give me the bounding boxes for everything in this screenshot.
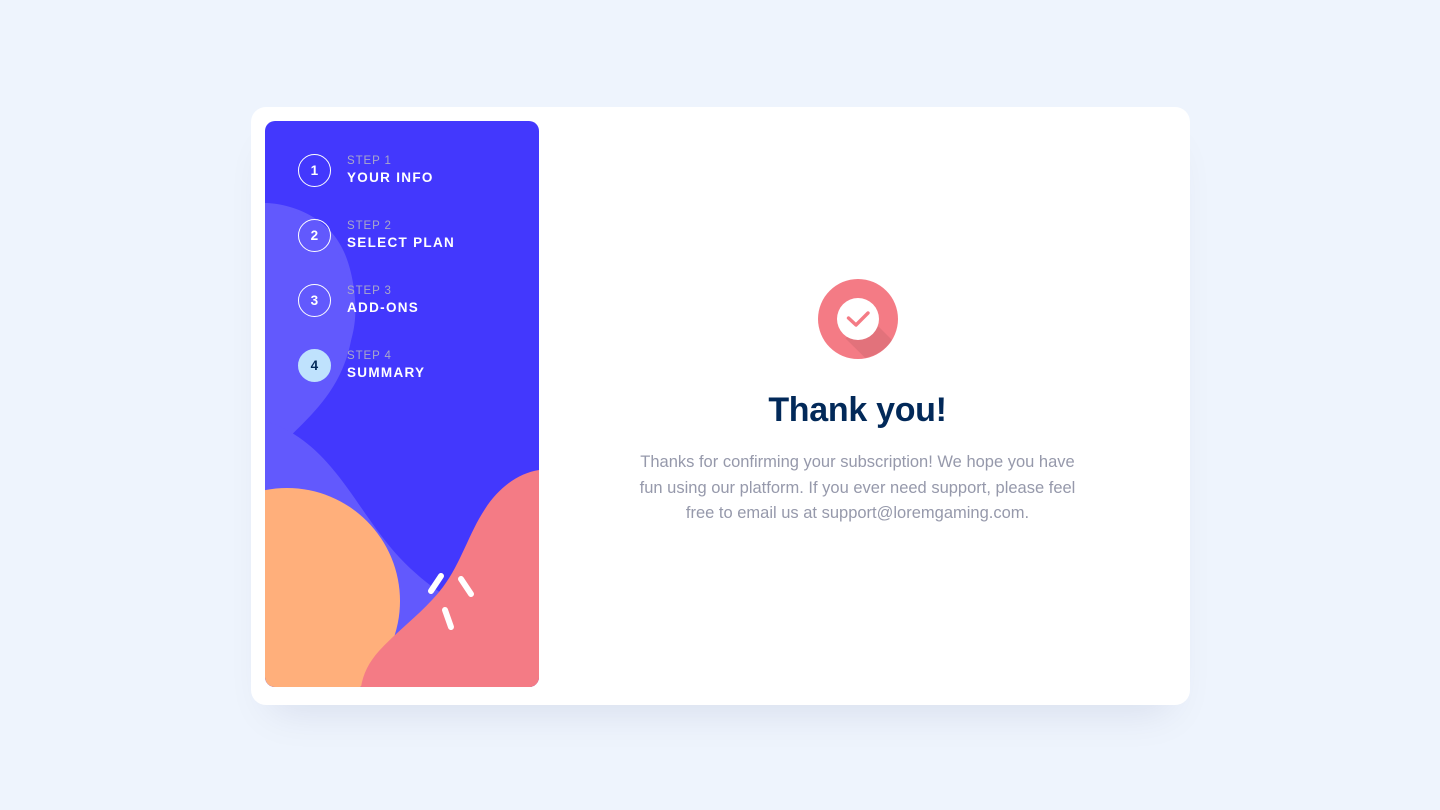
- step-number-label-4: STEP 4: [347, 350, 425, 363]
- light-purple-lower-shape: [265, 421, 539, 687]
- step-name-label-4: SUMMARY: [347, 366, 425, 381]
- thank-you-panel: Thank you! Thanks for confirming your su…: [539, 121, 1176, 691]
- step-number-label-3: STEP 3: [347, 285, 419, 298]
- white-dash-1: [431, 576, 441, 591]
- step-text-2: STEP 2 SELECT PLAN: [347, 220, 455, 250]
- white-dash-3: [445, 610, 451, 627]
- page-title: Thank you!: [768, 391, 946, 430]
- step-circle-4: 4: [298, 349, 331, 382]
- step-list: 1 STEP 1 YOUR INFO 2 STEP 2 SELECT PLAN …: [265, 121, 539, 382]
- sidebar-step-your-info[interactable]: 1 STEP 1 YOUR INFO: [298, 154, 539, 187]
- sidebar-step-select-plan[interactable]: 2 STEP 2 SELECT PLAN: [298, 219, 539, 252]
- step-circle-1: 1: [298, 154, 331, 187]
- step-circle-2: 2: [298, 219, 331, 252]
- step-name-label-3: ADD-ONS: [347, 301, 419, 316]
- icon-inner-circle: [837, 298, 879, 340]
- thank-you-message: Thanks for confirming your subscription!…: [634, 450, 1082, 527]
- step-text-4: STEP 4 SUMMARY: [347, 350, 425, 380]
- step-circle-3: 3: [298, 284, 331, 317]
- step-text-1: STEP 1 YOUR INFO: [347, 155, 434, 185]
- multi-step-form-card: 1 STEP 1 YOUR INFO 2 STEP 2 SELECT PLAN …: [251, 107, 1190, 705]
- step-name-label-1: YOUR INFO: [347, 171, 434, 186]
- check-circle-icon: [818, 279, 898, 359]
- sidebar-step-summary[interactable]: 4 STEP 4 SUMMARY: [298, 349, 539, 382]
- pink-blob-shape: [361, 470, 539, 687]
- white-dash-2: [461, 579, 471, 594]
- pink-blob-shape-2: [361, 470, 539, 687]
- sidebar-step-add-ons[interactable]: 3 STEP 3 ADD-ONS: [298, 284, 539, 317]
- step-text-3: STEP 3 ADD-ONS: [347, 285, 419, 315]
- step-sidebar: 1 STEP 1 YOUR INFO 2 STEP 2 SELECT PLAN …: [265, 121, 539, 687]
- step-name-label-2: SELECT PLAN: [347, 236, 455, 251]
- step-number-label-1: STEP 1: [347, 155, 434, 168]
- step-number-label-2: STEP 2: [347, 220, 455, 233]
- orange-circle-shape: [265, 488, 400, 687]
